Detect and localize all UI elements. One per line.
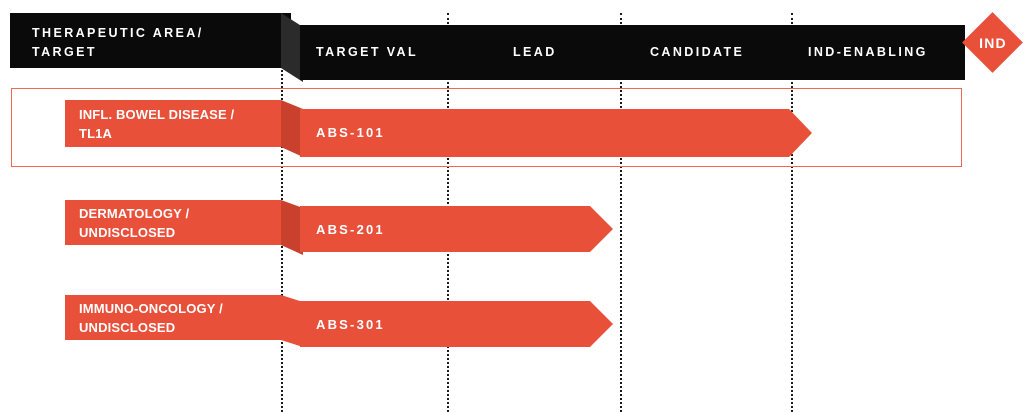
row-area-label-3: IMMUNO-ONCOLOGY / UNDISCLOSED (65, 299, 223, 337)
header-stage-target-val: TARGET VAL (316, 43, 456, 62)
program-label-3: ABS-301 (316, 317, 385, 332)
program-label-2: ABS-201 (316, 222, 385, 237)
row-label-block-3: IMMUNO-ONCOLOGY / UNDISCLOSED (65, 295, 281, 340)
header-stage-ind-enabling: IND-ENABLING (808, 43, 983, 62)
header-category-label: THERAPEUTIC AREA/ TARGET (32, 24, 282, 62)
header-stage-candidate: CANDIDATE (650, 43, 810, 62)
row-label-block-1: INFL. BOWEL DISEASE / TL1A (65, 100, 281, 147)
header-stage-lead: LEAD (513, 43, 633, 62)
row-label-block-2: DERMATOLOGY / UNDISCLOSED (65, 200, 281, 245)
program-label-1: ABS-101 (316, 125, 385, 140)
pipeline-chart: THERAPEUTIC AREA/ TARGET TARGET VAL LEAD… (0, 0, 1024, 412)
ind-milestone-label: IND (963, 35, 1023, 51)
row-area-label-2: DERMATOLOGY / UNDISCLOSED (65, 204, 189, 242)
row-area-label-1: INFL. BOWEL DISEASE / TL1A (65, 105, 234, 143)
